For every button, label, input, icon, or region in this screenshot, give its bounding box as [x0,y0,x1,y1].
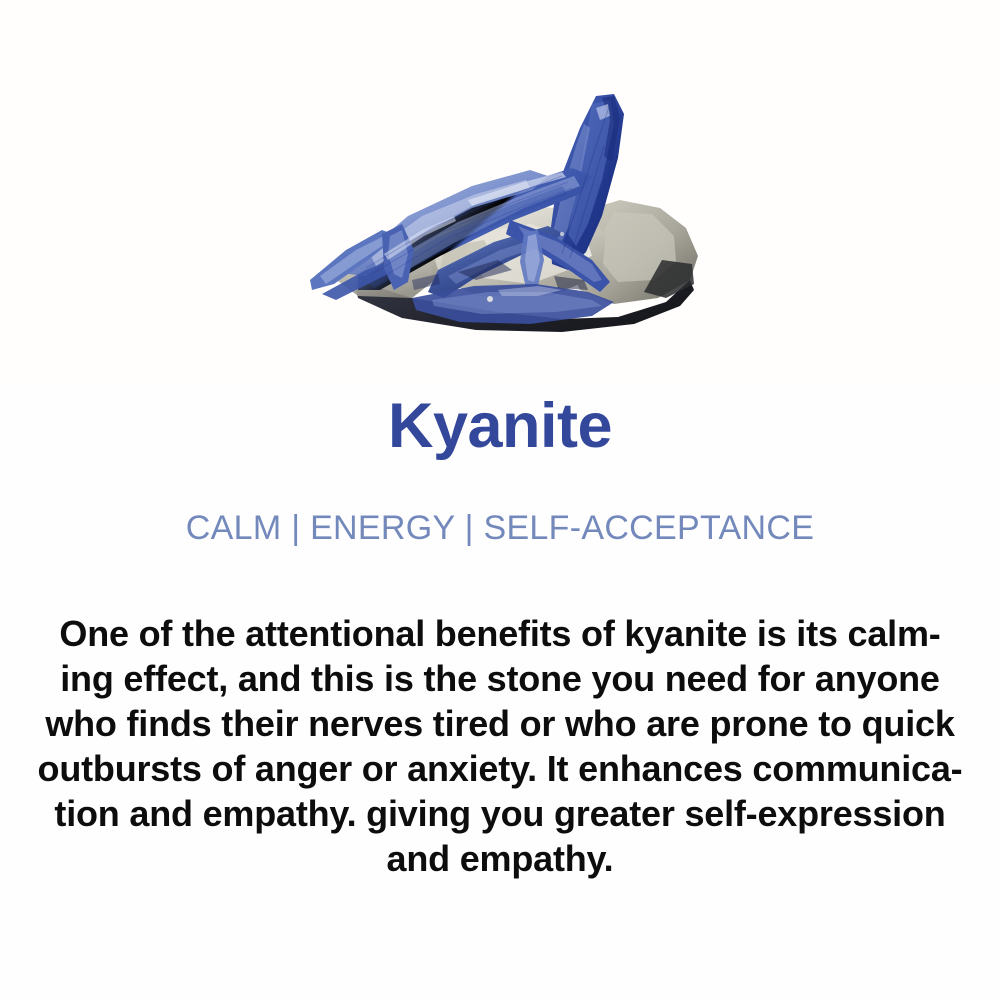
kyanite-info-card: Kyanite CALM | ENERGY | SELF-ACCEPTANCE … [0,0,1000,1000]
description-line: and empathy. [28,836,972,881]
page-title: Kyanite [0,393,1000,459]
description-line: who finds their nerves tired or who are … [28,701,972,746]
hero-image-band [0,0,1000,383]
description-line: tion and empathy. giving you greater sel… [28,791,972,836]
description-line: One of the attentional benefits of kyani… [28,611,972,656]
kyanite-specimen-image [262,84,717,334]
keyword-subtitle: CALM | ENERGY | SELF-ACCEPTANCE [0,510,1000,547]
description-line: ing effect, and this is the stone you ne… [28,656,972,701]
kyanite-specimen-illustration [262,84,717,334]
description-line: outbursts of anger or anxiety. It enhanc… [28,746,972,791]
description-paragraph: One of the attentional benefits of kyani… [28,611,972,881]
card-content: Kyanite CALM | ENERGY | SELF-ACCEPTANCE … [0,383,1000,1000]
